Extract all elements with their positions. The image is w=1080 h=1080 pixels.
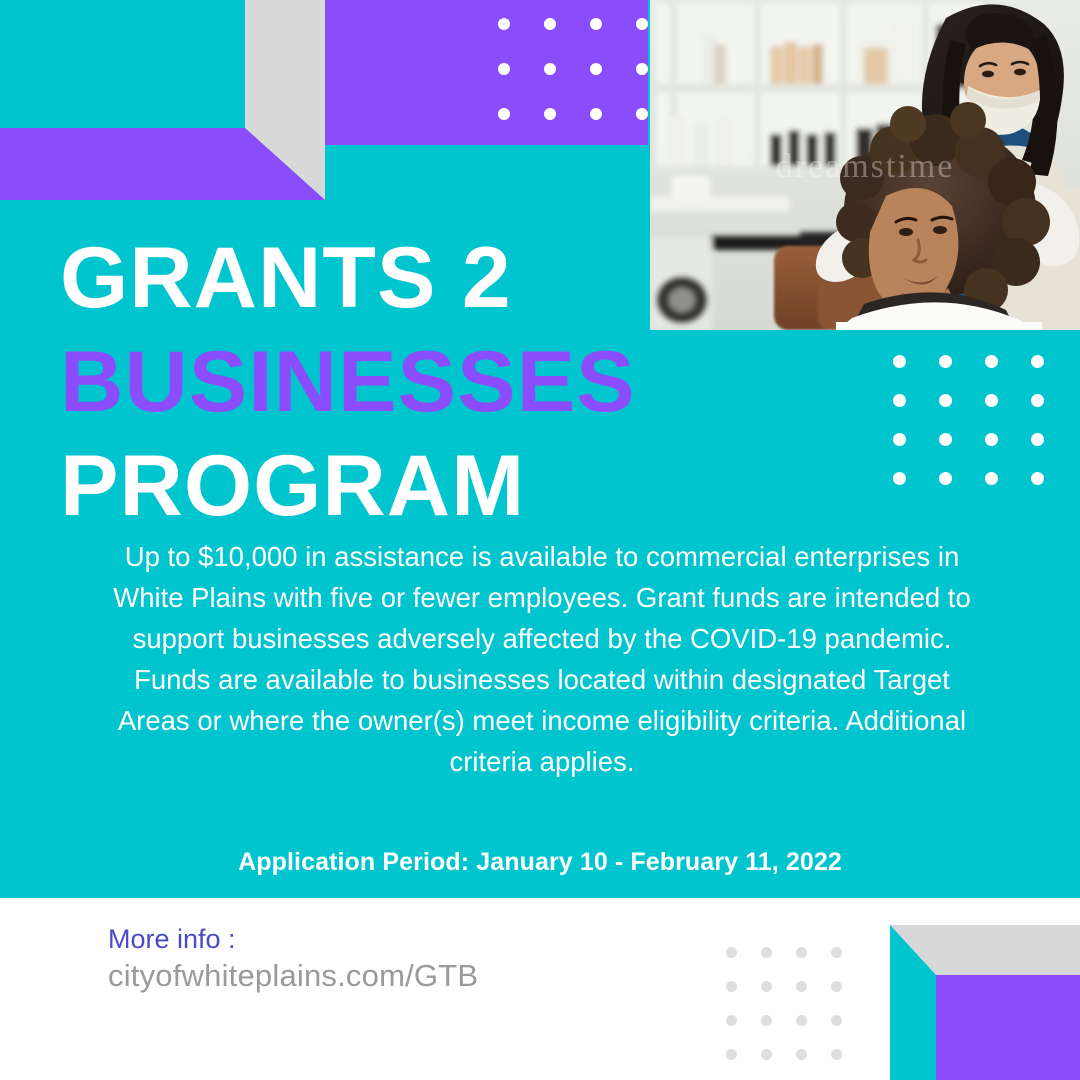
dot [498,108,510,120]
dot [1031,394,1044,407]
dot [796,1015,807,1026]
dot [726,947,737,958]
dot [893,394,906,407]
dot [985,394,998,407]
dot [831,981,842,992]
dot [590,108,602,120]
headline-line-1: GRANTS 2 [60,226,672,330]
dot [636,108,648,120]
dot [726,1015,737,1026]
dot [636,63,648,75]
dot [590,63,602,75]
dot [831,947,842,958]
more-info-label: More info : [108,924,236,955]
dot [939,355,952,368]
dot [1031,472,1044,485]
dot [590,18,602,30]
dot [893,472,906,485]
dot-grid-top [498,18,648,120]
dot [939,394,952,407]
dot [1031,355,1044,368]
dot [985,355,998,368]
dot [831,1015,842,1026]
headline-block: GRANTS 2 BUSINESSES PROGRAM [60,226,660,538]
dot [1031,433,1044,446]
body-paragraph: Up to $10,000 in assistance is available… [104,536,980,782]
dot [498,63,510,75]
dot [636,18,648,30]
bottom-right-purple-block [936,975,1080,1080]
dot [544,63,556,75]
dot-grid-footer [726,947,842,1060]
dot [761,1049,772,1060]
dot [939,472,952,485]
dot [893,433,906,446]
dot [796,947,807,958]
dot [796,981,807,992]
dot [985,472,998,485]
dot [985,433,998,446]
dot [831,1049,842,1060]
dot [544,108,556,120]
application-period: Application Period: January 10 - Februar… [0,848,1080,877]
dot [544,18,556,30]
headline-line-3: PROGRAM [60,434,672,538]
dot [761,947,772,958]
salon-photo: dreamstime [650,0,1080,330]
dot [939,433,952,446]
headline-line-2: BUSINESSES [60,330,672,434]
dot [893,355,906,368]
dot [761,981,772,992]
dot [761,1015,772,1026]
poster-canvas: dreamstime GRANTS 2 BUSINESSES PROGRAM U… [0,0,1080,1080]
dot [498,18,510,30]
dot [726,981,737,992]
dot [796,1049,807,1060]
dot-grid-right [893,355,1044,485]
website-url[interactable]: cityofwhiteplains.com/GTB [108,958,478,994]
dot [726,1049,737,1060]
